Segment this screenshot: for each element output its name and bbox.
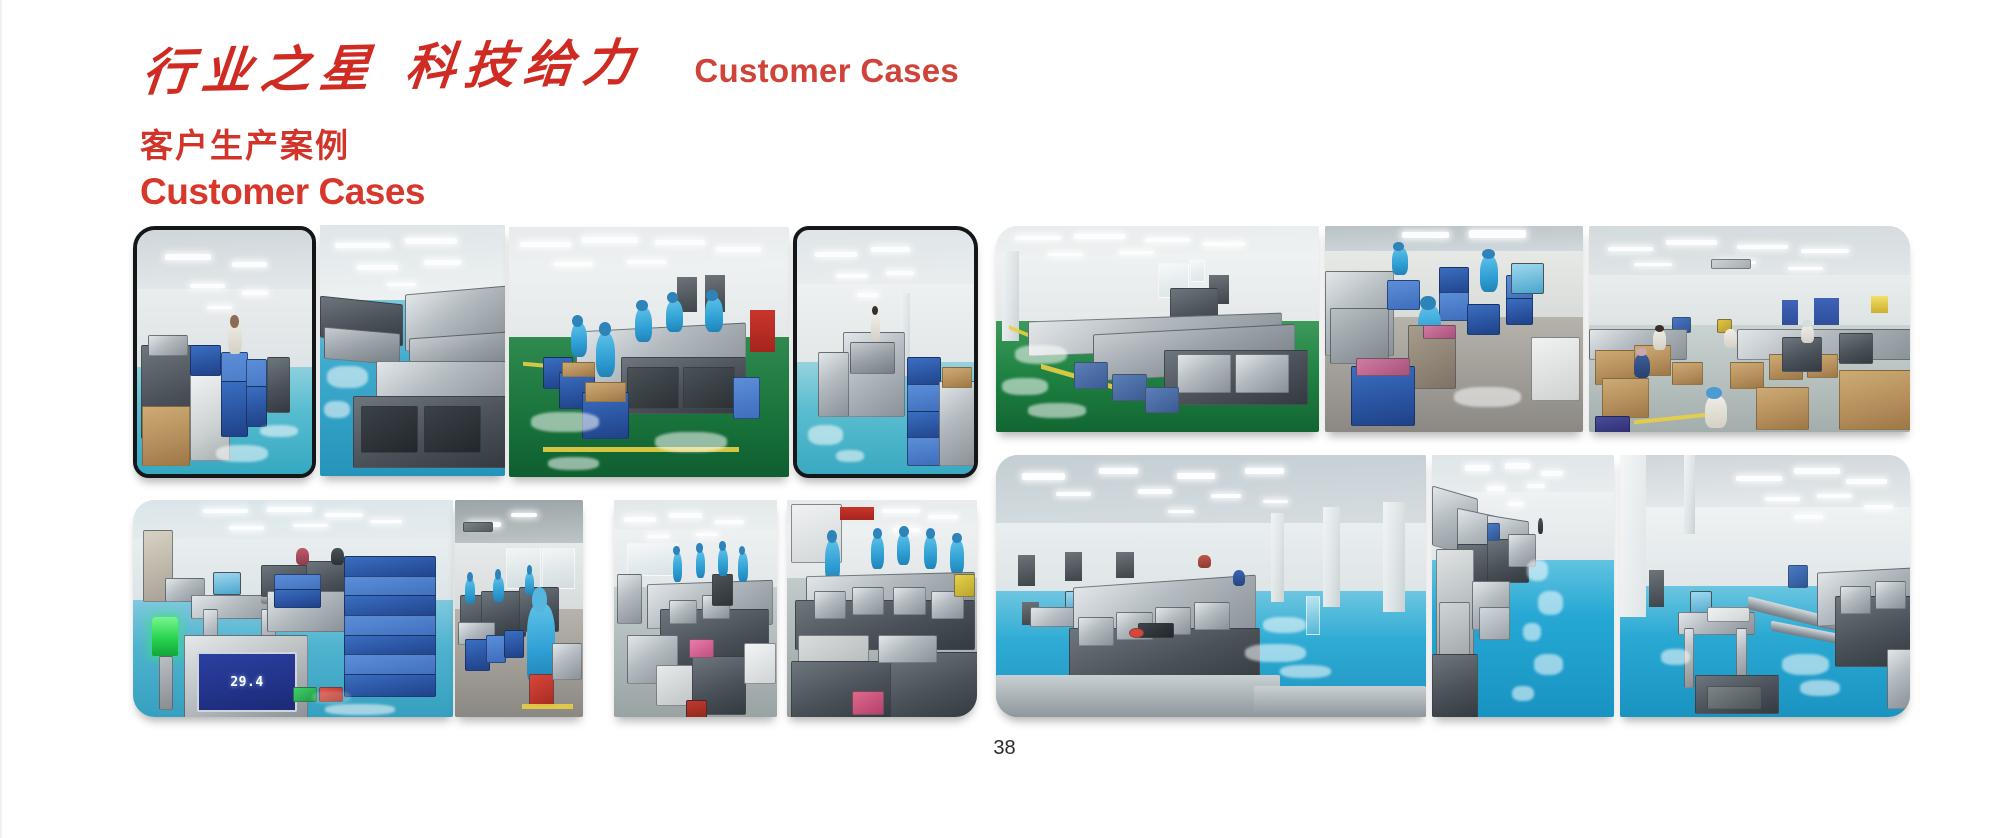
checkweigher-display: 29.4 xyxy=(197,652,297,712)
photo-tl-4[interactable] xyxy=(793,226,978,478)
photo-bl-2-scene xyxy=(455,500,583,717)
photo-br-1-scene xyxy=(996,455,1426,717)
photo-bl-4[interactable] xyxy=(787,500,977,717)
photo-bl-1[interactable]: 29.4 xyxy=(133,500,453,717)
photo-tr-1[interactable] xyxy=(996,226,1319,432)
photo-tr-1-scene xyxy=(996,226,1319,432)
photo-tr-3-scene xyxy=(1589,226,1910,432)
photo-tr-2[interactable] xyxy=(1325,226,1583,432)
photo-br-2-scene xyxy=(1432,455,1614,717)
photo-tl-2[interactable] xyxy=(320,225,505,476)
photo-tl-3-scene xyxy=(509,227,789,477)
photo-bl-4-scene xyxy=(787,500,977,717)
photo-tr-2-scene xyxy=(1325,226,1583,432)
photo-bl-3-scene xyxy=(614,500,777,717)
photo-bl-2[interactable] xyxy=(455,500,583,717)
photo-tl-1[interactable] xyxy=(133,226,316,478)
photo-tl-1-scene xyxy=(137,230,312,474)
photo-collage: 29.4 xyxy=(0,0,2009,838)
photo-tl-3[interactable] xyxy=(509,227,789,477)
photo-tl-4-scene xyxy=(797,230,974,474)
photo-tl-2-scene xyxy=(320,225,505,476)
photo-tr-3[interactable] xyxy=(1589,226,1910,432)
photo-br-2[interactable] xyxy=(1432,455,1614,717)
tower-light-green xyxy=(152,617,178,656)
photo-br-3[interactable] xyxy=(1620,455,1910,717)
page-number: 38 xyxy=(0,737,2009,760)
photo-bl-1-scene: 29.4 xyxy=(133,500,453,717)
photo-bl-3[interactable] xyxy=(614,500,777,717)
checkweigher-value: 29.4 xyxy=(230,675,263,690)
photo-br-3-scene xyxy=(1620,455,1910,717)
slide-canvas: 行业之星 科技给力 Customer Cases 客户生产案例 Customer… xyxy=(0,0,2009,838)
photo-br-1[interactable] xyxy=(996,455,1426,717)
